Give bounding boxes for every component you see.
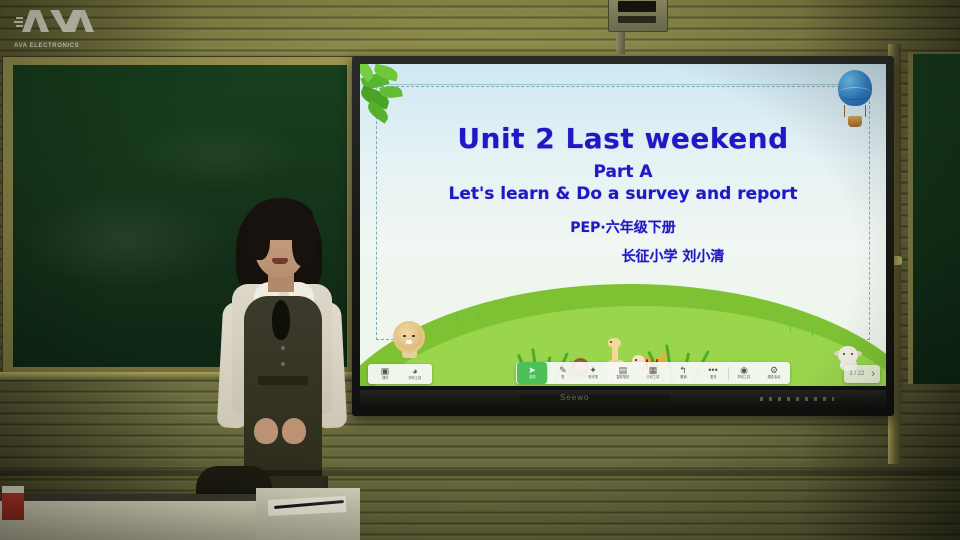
bezel-vents [760, 397, 834, 401]
whiteboard-screen[interactable]: Unit 2 Last weekend Part A Let's learn &… [360, 64, 886, 386]
tool-shapes[interactable]: ▦ 几何工具 [638, 362, 668, 384]
tools-icon: ◉ [740, 366, 748, 375]
camera-lens-icon [618, 1, 656, 12]
toolbar-left-label-0: 课件 [382, 376, 388, 381]
tool-pen[interactable]: ✎ 笔 [548, 362, 578, 384]
ava-logo-mark-icon [14, 8, 106, 34]
tool-class-activity-label: 课堂活动 [768, 375, 781, 380]
tool-subject-tools-label: 学科工具 [738, 375, 751, 380]
tool-highlighter-label: 荧光笔 [588, 375, 598, 380]
whiteboard-bezel-bottom: Seewo [360, 390, 886, 410]
tool-eraser-label: 智能笔形 [617, 375, 630, 380]
whiteboard-brand: Seewo [560, 393, 589, 402]
tool-pen-label: 笔 [561, 375, 564, 380]
slide-school-teacher: 长征小学 刘小清 [360, 246, 886, 266]
interactive-whiteboard[interactable]: Unit 2 Last weekend Part A Let's learn &… [352, 56, 894, 416]
shapes-icon: ▦ [649, 366, 658, 375]
floor-shadow-line [0, 470, 960, 476]
next-page-icon[interactable]: › [871, 368, 875, 380]
camera-grill-icon [618, 16, 656, 23]
cursor-icon: ➤ [528, 366, 536, 375]
tool-class-activity[interactable]: ⚙ 课堂活动 [759, 362, 789, 384]
page-indicator: 1 / 22 [849, 371, 864, 377]
eraser-icon: ▤ [619, 366, 628, 375]
user-icon: ◕ [412, 367, 417, 376]
tool-eraser[interactable]: ▤ 智能笔形 [608, 362, 638, 384]
tool-select[interactable]: ➤ 选择 [517, 362, 547, 384]
classroom-scene: AVA ELECTRONICS [0, 0, 960, 540]
undo-icon: ↰ [679, 366, 687, 375]
page-navigation[interactable]: 1 / 22 › [844, 365, 880, 383]
ava-logo-text: AVA ELECTRONICS [14, 43, 79, 49]
ir-sensor-strip [520, 395, 670, 404]
tool-more-label: 更多 [710, 375, 716, 380]
presentation-slide: Unit 2 Last weekend Part A Let's learn &… [360, 64, 886, 386]
tool-undo[interactable]: ↰ 撤销 [668, 362, 698, 384]
highlighter-icon: ✦ [589, 366, 597, 375]
tool-subject-tools[interactable]: ◉ 学科工具 [729, 362, 759, 384]
lion-icon [396, 324, 426, 360]
toolbar-main[interactable]: ➤ 选择 ✎ 笔 ✦ 荧光笔 ▤ 智能笔形 [516, 362, 790, 384]
slide-title: Unit 2 Last weekend [360, 122, 886, 155]
slide-subtitle: Let's learn & Do a survey and report [360, 184, 886, 204]
slide-textbook: PEP·六年级下册 [360, 217, 886, 237]
page-thumbnail-icon: ▣ [381, 367, 390, 376]
chalkboard-right [908, 52, 960, 384]
ceiling-camera [608, 0, 668, 32]
tool-highlighter[interactable]: ✦ 荧光笔 [578, 362, 608, 384]
toolbar-left-label-1: 学科工具 [409, 376, 422, 381]
more-icon: ••• [708, 366, 717, 375]
settings-icon: ⚙ [770, 366, 778, 375]
red-box-lid [2, 486, 24, 493]
tool-undo-label: 撤销 [680, 375, 686, 380]
toolbar-left-item-0[interactable]: ▣ 课件 [370, 364, 400, 384]
toolbar-left[interactable]: ▣ 课件 ◕ 学科工具 [368, 364, 432, 384]
tool-more[interactable]: ••• 更多 [698, 362, 728, 384]
toolbar-left-item-1[interactable]: ◕ 学科工具 [400, 364, 430, 384]
teacher-collar-bow [272, 300, 290, 340]
slide-part: Part A [360, 162, 886, 182]
tool-select-label: 选择 [529, 375, 535, 380]
ava-logo-watermark: AVA ELECTRONICS [14, 8, 106, 48]
tool-shapes-label: 几何工具 [647, 375, 660, 380]
slide-top-rule [374, 84, 872, 85]
pen-icon: ✎ [559, 366, 567, 375]
